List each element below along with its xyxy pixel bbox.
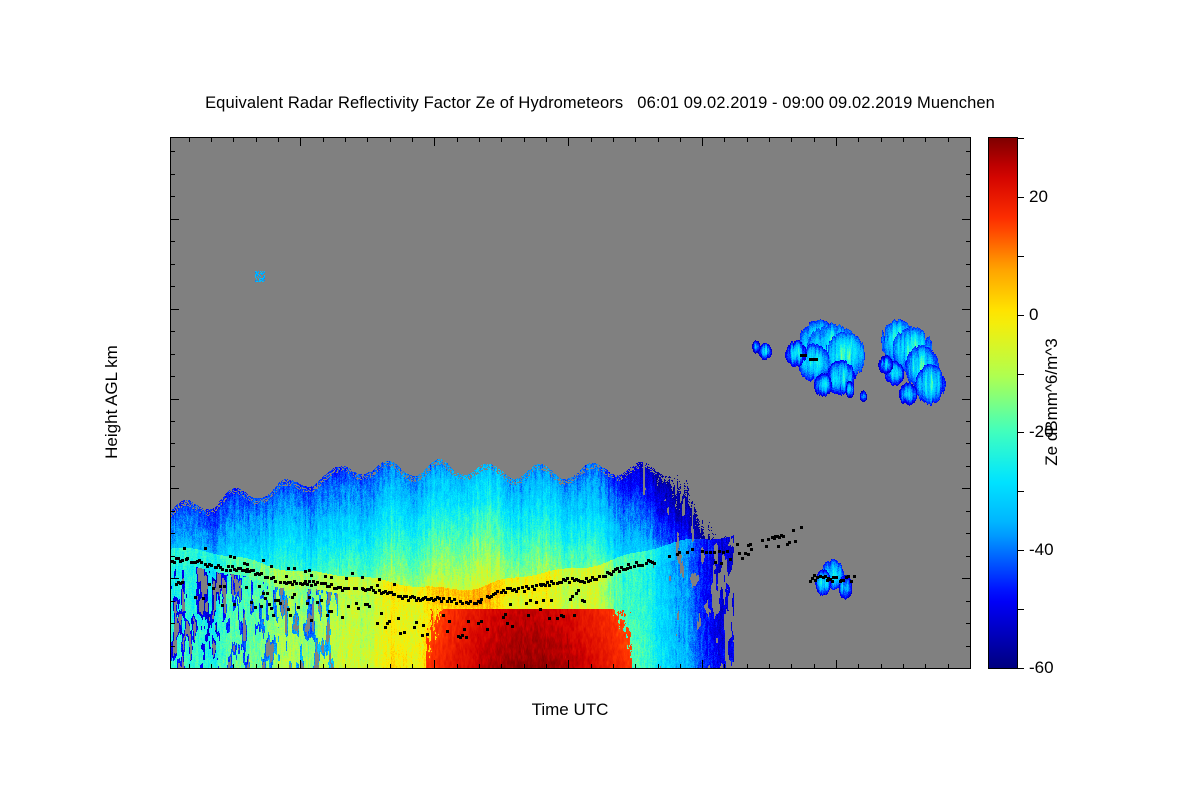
x-axis-tick-top (747, 137, 748, 142)
y-axis-tick (170, 466, 175, 467)
x-axis-tick (836, 660, 837, 669)
colorbar-tick (1017, 609, 1024, 610)
x-axis-tick (345, 664, 346, 669)
x-axis-tick-top (814, 137, 815, 142)
x-axis-tick (635, 664, 636, 669)
x-axis-tick (658, 664, 659, 669)
x-axis-tick (881, 664, 882, 669)
x-axis-tick (791, 664, 792, 669)
colorbar-tick-label: 20 (1029, 187, 1048, 207)
x-axis-tick-top (680, 137, 681, 142)
y-axis-tick-right (962, 219, 971, 220)
x-axis-tick-top (970, 137, 971, 146)
colorbar-tick (1017, 256, 1024, 257)
x-axis-tick-top (925, 137, 926, 142)
chart-root: Equivalent Radar Reflectivity Factor Ze … (0, 0, 1200, 800)
x-axis-tick-top (635, 137, 636, 142)
x-axis-tick (211, 664, 212, 669)
y-axis-tick (170, 533, 175, 534)
y-axis-tick (170, 264, 175, 265)
y-axis-tick-right (966, 533, 971, 534)
y-axis-tick-right (966, 466, 971, 467)
y-axis-tick (170, 241, 175, 242)
y-axis-tick (170, 556, 175, 557)
y-axis-tick-right (966, 376, 971, 377)
x-axis-tick-top (881, 137, 882, 142)
x-axis-tick (724, 664, 725, 669)
colorbar-title: Ze dBmm^6/m^3 (1042, 338, 1062, 465)
x-axis-tick-top (724, 137, 725, 142)
y-axis-tick (170, 174, 175, 175)
colorbar-tick (1017, 315, 1024, 316)
y-axis-tick-right (966, 286, 971, 287)
x-axis-tick (613, 664, 614, 669)
x-axis-tick-top (858, 137, 859, 142)
colorbar-gradient (989, 138, 1017, 668)
y-axis-tick-right (962, 399, 971, 400)
x-axis-tick (457, 664, 458, 669)
y-axis-tick-right (966, 196, 971, 197)
y-axis-tick (170, 601, 175, 602)
y-axis-tick (170, 488, 179, 489)
colorbar-tick (1017, 138, 1024, 139)
y-axis-tick (170, 196, 175, 197)
y-axis-tick (170, 219, 179, 220)
x-axis-tick-top (568, 137, 569, 146)
colorbar: 200-20-40-60 (988, 137, 1018, 669)
x-axis-tick-top (434, 137, 435, 146)
x-axis-tick (300, 660, 301, 669)
y-axis-tick (170, 151, 175, 152)
x-axis-tick (948, 664, 949, 669)
y-axis-tick (170, 286, 175, 287)
x-axis-tick-top (524, 137, 525, 142)
radar-heatmap-canvas (171, 138, 970, 668)
x-axis-tick (680, 664, 681, 669)
x-axis-tick-top (903, 137, 904, 142)
x-axis-tick (970, 660, 971, 669)
y-axis-tick-right (966, 331, 971, 332)
colorbar-tick (1017, 491, 1024, 492)
x-axis-tick-top (412, 137, 413, 142)
heatmap-layer (171, 138, 970, 668)
x-axis-title: Time UTC (532, 700, 609, 720)
y-axis-tick-right (966, 623, 971, 624)
x-axis-tick (769, 664, 770, 669)
x-axis-tick-top (546, 137, 547, 142)
x-axis-tick (189, 664, 190, 669)
y-axis-tick-right (966, 354, 971, 355)
x-axis-tick (702, 660, 703, 669)
x-axis-tick (501, 664, 502, 669)
y-axis-tick-right (966, 646, 971, 647)
y-axis-tick (170, 376, 175, 377)
y-axis-tick-right (966, 511, 971, 512)
y-axis-tick-right (966, 264, 971, 265)
y-axis-title: Height AGL km (102, 345, 122, 459)
x-axis-tick-top (501, 137, 502, 142)
y-axis-tick-right (962, 309, 971, 310)
y-axis-tick-right (966, 443, 971, 444)
x-axis-tick (546, 664, 547, 669)
x-axis-tick-top (367, 137, 368, 142)
y-axis-tick (170, 421, 175, 422)
y-axis-tick-right (966, 601, 971, 602)
x-axis-tick (479, 664, 480, 669)
colorbar-tick (1017, 550, 1024, 551)
y-axis-tick (170, 354, 175, 355)
y-axis-tick (170, 646, 175, 647)
chart-title: Equivalent Radar Reflectivity Factor Ze … (0, 94, 1200, 113)
y-axis-tick-right (962, 488, 971, 489)
x-axis-tick-top (189, 137, 190, 142)
x-axis-tick-top (300, 137, 301, 146)
x-axis-tick (278, 664, 279, 669)
x-axis-tick (814, 664, 815, 669)
colorbar-tick-label: 0 (1029, 305, 1038, 325)
x-axis-tick-top (233, 137, 234, 142)
y-axis-tick (170, 578, 179, 579)
plot-area: 24681006:3007:0007:3008:0008:3009:00 (170, 137, 971, 669)
x-axis-tick (524, 664, 525, 669)
x-axis-tick-top (211, 137, 212, 142)
colorbar-tick-label: -40 (1029, 540, 1054, 560)
colorbar-tick (1017, 374, 1024, 375)
x-axis-tick-top (658, 137, 659, 142)
x-axis-tick (925, 664, 926, 669)
x-axis-tick (434, 660, 435, 669)
y-axis-tick-right (966, 668, 971, 669)
y-axis-tick-right (966, 241, 971, 242)
y-axis-tick (170, 399, 179, 400)
x-axis-tick-top (345, 137, 346, 142)
x-axis-tick (390, 664, 391, 669)
y-axis-tick (170, 443, 175, 444)
x-axis-tick (256, 664, 257, 669)
y-axis-tick (170, 623, 175, 624)
colorbar-tick-label: -60 (1029, 658, 1054, 678)
x-axis-tick-top (323, 137, 324, 142)
y-axis-tick-right (966, 174, 971, 175)
x-axis-tick (233, 664, 234, 669)
x-axis-tick (591, 664, 592, 669)
x-axis-tick-top (836, 137, 837, 146)
x-axis-tick (903, 664, 904, 669)
x-axis-tick-top (591, 137, 592, 142)
y-axis-tick (170, 331, 175, 332)
y-axis-tick (170, 511, 175, 512)
x-axis-tick-top (479, 137, 480, 142)
y-axis-tick-right (966, 151, 971, 152)
x-axis-tick-top (702, 137, 703, 146)
x-axis-tick-top (278, 137, 279, 142)
x-axis-tick-top (457, 137, 458, 142)
x-axis-tick-top (390, 137, 391, 142)
x-axis-tick-top (256, 137, 257, 142)
x-axis-tick (858, 664, 859, 669)
colorbar-tick (1017, 432, 1024, 433)
y-axis-tick-right (966, 421, 971, 422)
x-axis-tick (367, 664, 368, 669)
x-axis-tick (323, 664, 324, 669)
x-axis-tick (747, 664, 748, 669)
y-axis-tick (170, 668, 175, 669)
y-axis-tick-right (966, 556, 971, 557)
colorbar-tick (1017, 668, 1024, 669)
x-axis-tick-top (613, 137, 614, 142)
y-axis-tick-right (962, 578, 971, 579)
x-axis-tick-top (948, 137, 949, 142)
x-axis-tick-top (769, 137, 770, 142)
x-axis-tick (412, 664, 413, 669)
x-axis-tick-top (791, 137, 792, 142)
y-axis-tick (170, 309, 179, 310)
x-axis-tick (568, 660, 569, 669)
colorbar-tick (1017, 197, 1024, 198)
